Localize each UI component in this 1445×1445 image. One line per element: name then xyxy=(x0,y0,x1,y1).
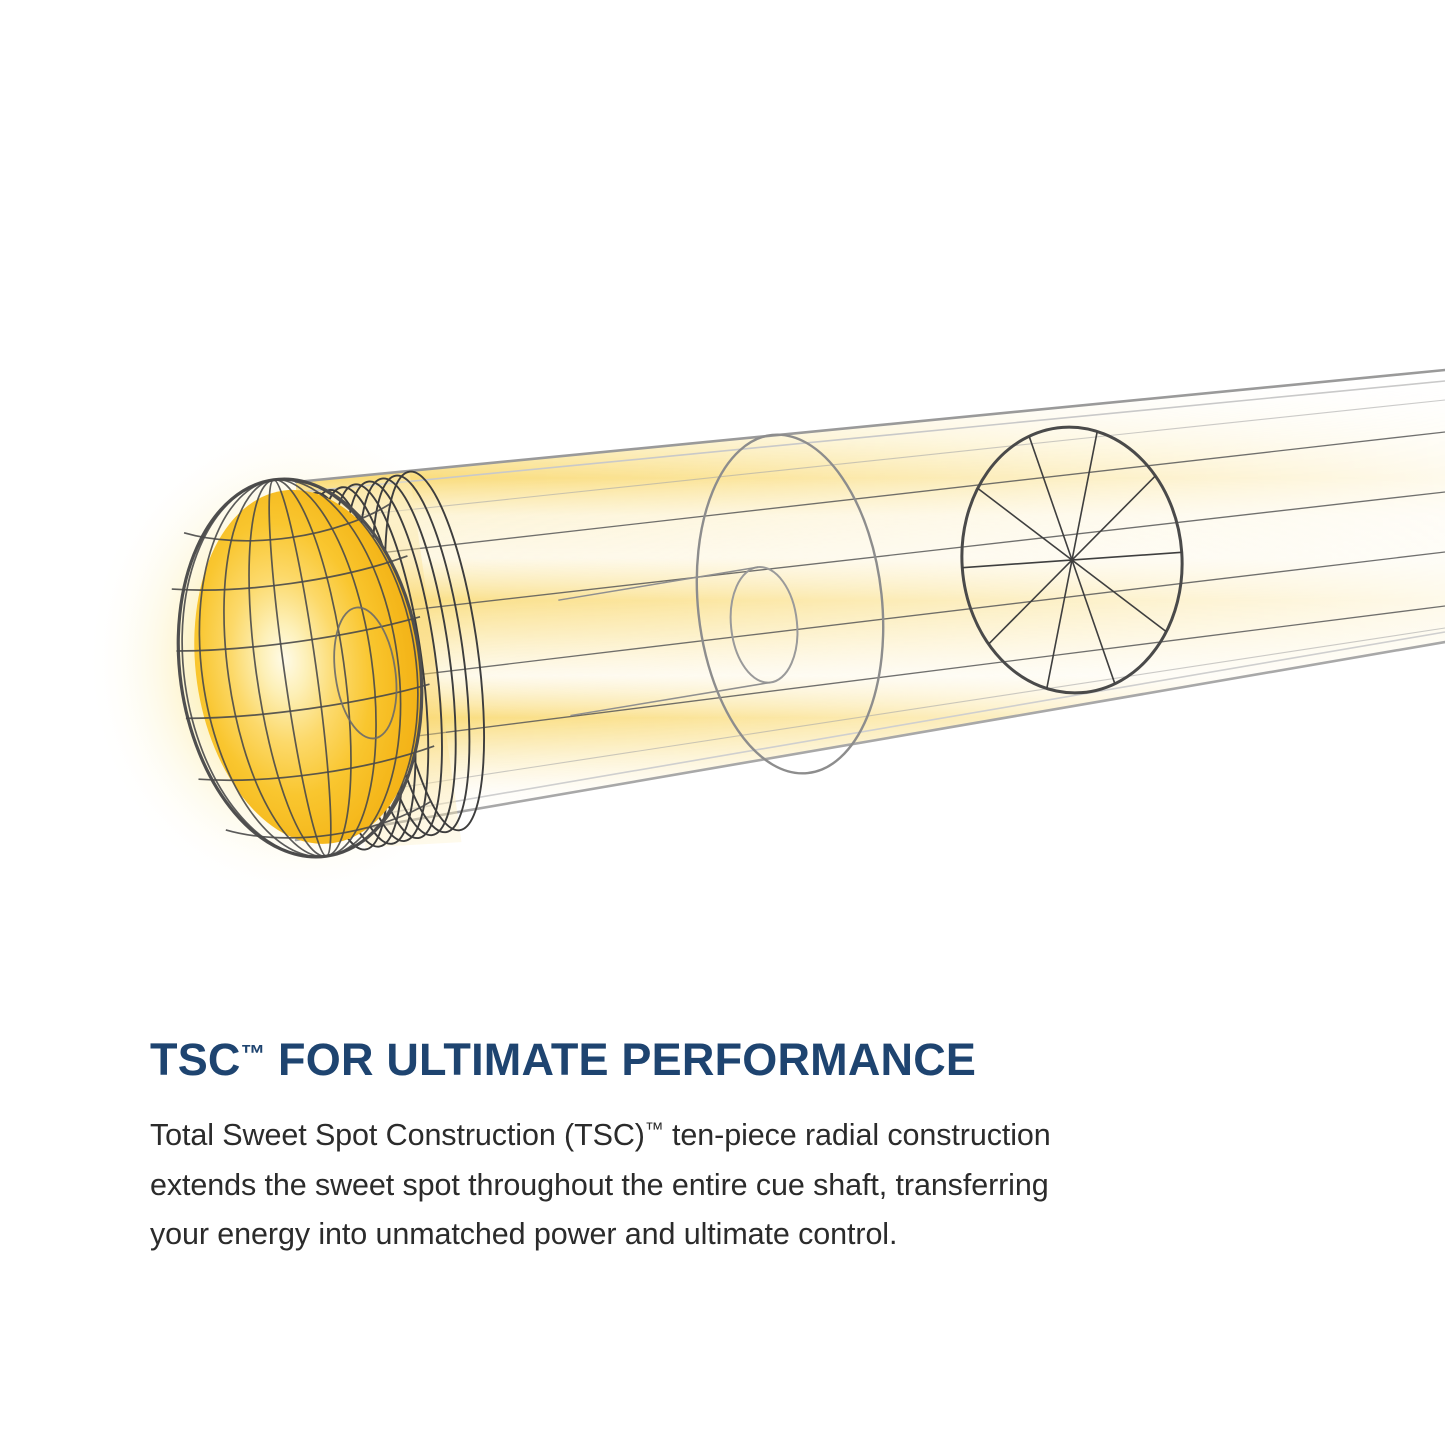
headline-prefix: TSC xyxy=(150,1034,241,1085)
headline-suffix: FOR ULTIMATE PERFORMANCE xyxy=(265,1034,976,1085)
description-line-2: extends the sweet spot throughout the en… xyxy=(150,1161,1320,1210)
description-text: Total Sweet Spot Construction (TSC)™ ten… xyxy=(150,1083,1320,1259)
description-line-1: Total Sweet Spot Construction (TSC)™ ten… xyxy=(150,1111,1320,1160)
trademark-symbol: ™ xyxy=(241,1041,266,1068)
cue-shaft-illustration xyxy=(0,0,1445,990)
description-line-1-a: Total Sweet Spot Construction (TSC) xyxy=(150,1118,645,1152)
caption-block: TSC™ FOR ULTIMATE PERFORMANCE Total Swee… xyxy=(150,1036,1320,1259)
product-feature-panel: TSC™ FOR ULTIMATE PERFORMANCE Total Swee… xyxy=(0,0,1445,1445)
trademark-symbol-body: ™ xyxy=(645,1120,664,1141)
description-line-1-b: ten-piece radial construction xyxy=(664,1118,1051,1152)
description-line-3: your energy into unmatched power and ult… xyxy=(150,1210,1320,1259)
page-title: TSC™ FOR ULTIMATE PERFORMANCE xyxy=(150,1036,1320,1083)
cue-shaft-svg xyxy=(0,0,1445,990)
